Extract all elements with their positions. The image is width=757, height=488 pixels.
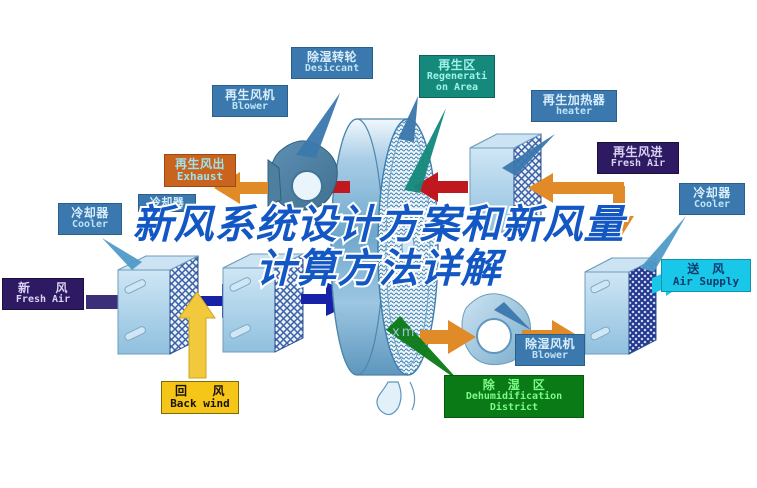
label-desiccant[interactable]: 除湿转轮 Desiccant <box>291 47 373 79</box>
system-schematic-illustration: xm <box>0 0 757 488</box>
label-dehumidification-district[interactable]: 除 湿 区 Dehumidification District <box>444 375 584 418</box>
equipment-cooler-mid <box>223 254 303 352</box>
label-cooler-mid[interactable]: 冷却器 <box>138 194 196 212</box>
arrow-regen-fresh-air-up <box>604 186 634 240</box>
watermark-text: xm <box>392 325 416 340</box>
label-regeneration-heater[interactable]: 再生加热器 heater <box>531 90 617 122</box>
label-cooler-left[interactable]: 冷却器 Cooler <box>58 203 122 235</box>
label-fresh-air[interactable]: 新 风 Fresh Air <box>2 278 84 310</box>
equipment-supply-cooler <box>585 258 656 354</box>
arrow-regen-fresh-air-in <box>528 173 624 203</box>
label-air-supply[interactable]: 送 风 Air Supply <box>661 259 751 292</box>
label-regeneration-blower[interactable]: 再生风机 Blower <box>212 85 288 117</box>
label-back-wind[interactable]: 回 风 Back wind <box>161 381 239 414</box>
label-dehumidification-blower[interactable]: 除湿风机 Blower <box>515 334 585 366</box>
equipment-cooler-left <box>118 256 198 354</box>
equipment-regeneration-heater <box>470 134 541 232</box>
label-exhaust[interactable]: 再生风出 Exhaust <box>164 154 236 187</box>
label-regeneration-area[interactable]: 再生区 Regenerati on Area <box>419 55 495 98</box>
diagram-canvas: xm 除湿转轮 Desiccant 再生风机 Blower 再生区 Regene… <box>0 0 757 488</box>
label-cooler-right[interactable]: 冷却器 Cooler <box>679 183 745 215</box>
label-regeneration-fresh-air[interactable]: 再生风进 Fresh Air <box>597 142 679 174</box>
